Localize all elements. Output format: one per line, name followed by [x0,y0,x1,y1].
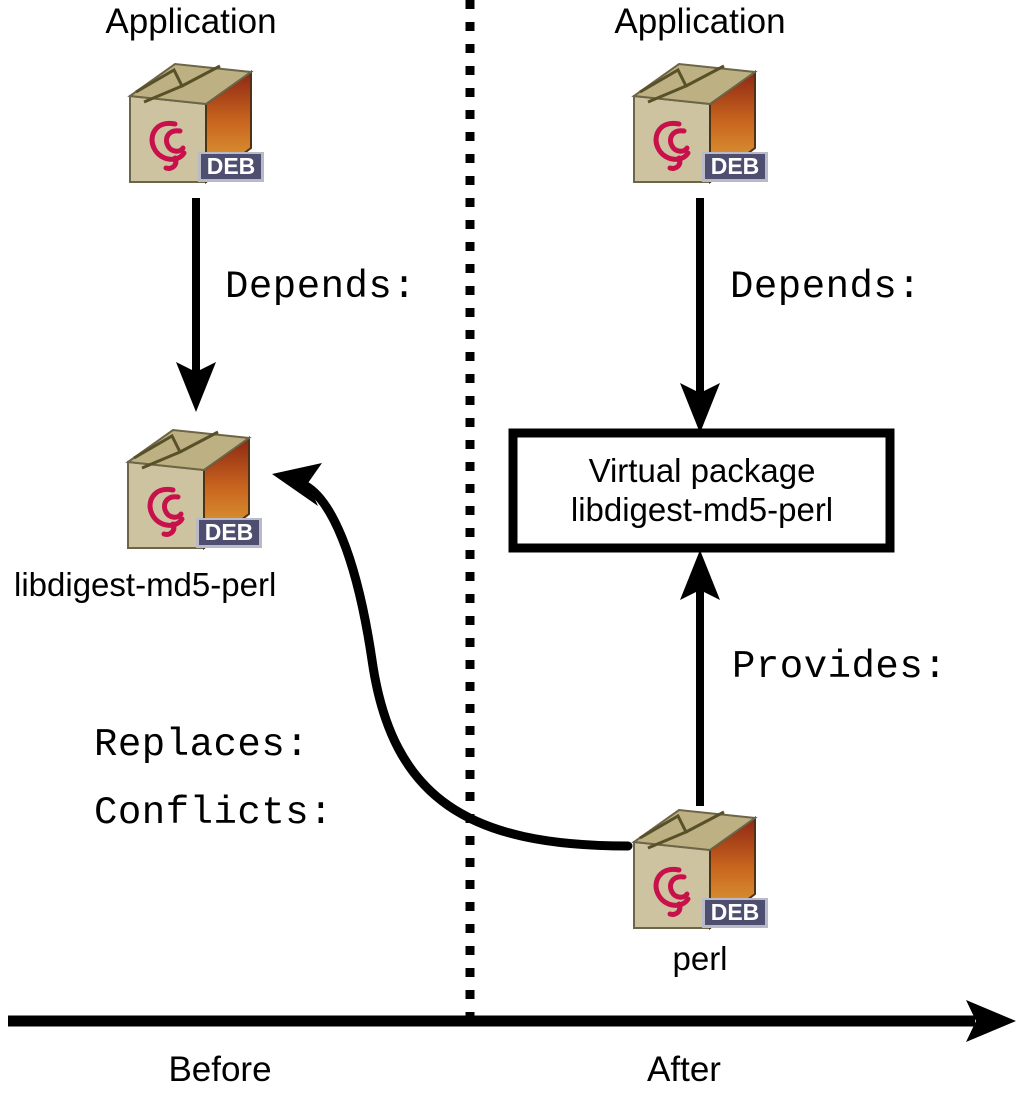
depends-label-before: Depends: [225,268,416,307]
diagram-canvas: Application [0,0,1024,1094]
depends-arrow-after [680,198,720,433]
deb-badge: DEB [198,152,264,182]
depends-label-after: Depends: [730,268,921,307]
virtual-package-line1: Virtual package [589,452,816,491]
after-application-heading: Application [614,4,785,39]
provides-arrow [680,550,720,806]
deb-badge: DEB [702,898,768,928]
depends-arrow-before [176,198,216,412]
svg-text:DEB: DEB [711,899,760,925]
before-application-heading: Application [105,4,276,39]
conflicts-label: Conflicts: [94,794,333,833]
svg-text:DEB: DEB [711,153,760,179]
before-dependency-package-icon: DEB [118,424,270,558]
before-dependency-caption: libdigest-md5-perl [14,568,276,601]
replaces-label: Replaces: [94,726,309,765]
after-provider-caption: perl [672,942,727,975]
after-application-package-icon: DEB [624,58,776,192]
svg-text:DEB: DEB [207,153,256,179]
virtual-package-label: Virtual package libdigest-md5-perl [514,434,890,548]
deb-badge: DEB [196,518,262,548]
before-application-package-icon: DEB [120,58,272,192]
timeline-before-label: Before [168,1052,271,1087]
svg-text:DEB: DEB [205,519,254,545]
time-axis-arrow [8,1000,1016,1042]
virtual-package-line2: libdigest-md5-perl [571,491,833,530]
provides-label: Provides: [732,648,947,687]
after-provider-package-icon: DEB [624,804,776,938]
deb-badge: DEB [702,152,768,182]
timeline-after-label: After [647,1052,721,1087]
